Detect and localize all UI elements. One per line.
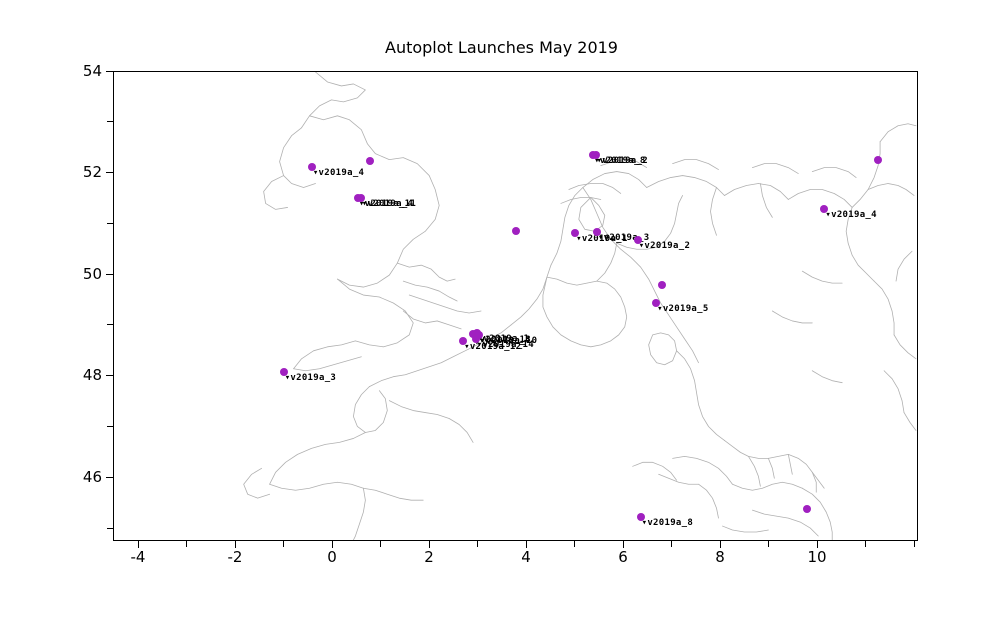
ytick-label: 50 (58, 265, 102, 283)
ytick-minor (107, 223, 113, 224)
xtick-minor (914, 541, 915, 547)
xtick-major (429, 541, 430, 548)
xtick-label: -4 (131, 548, 146, 566)
xtick-minor (380, 541, 381, 547)
xtick-major (138, 541, 139, 548)
data-point-label: ▾v2019a_4 (313, 168, 364, 178)
ytick-label: 46 (58, 468, 102, 486)
xtick-minor (186, 541, 187, 547)
xtick-minor (283, 541, 284, 547)
ytick-minor (107, 528, 113, 529)
ytick-label: 48 (58, 366, 102, 384)
page-title: Autoplot Launches May 2019 (0, 38, 1003, 57)
ytick-label: 52 (58, 163, 102, 181)
xtick-major (623, 541, 624, 548)
ytick-minor (107, 121, 113, 122)
data-point-label: ▾v2019a_3 (285, 373, 336, 383)
data-point-label: ▾v2019a_14 (477, 340, 534, 350)
data-point-label: ▾v2019a_2 (639, 241, 690, 251)
xtick-minor (671, 541, 672, 547)
matplotlib-figure: Autoplot Launches May 2019 (0, 0, 1003, 633)
ytick-major (106, 477, 113, 478)
xtick-label: 0 (327, 548, 337, 566)
xtick-major (235, 541, 236, 548)
xtick-minor (865, 541, 866, 547)
ytick-major (106, 71, 113, 72)
data-point-label: ▾v2019a_4 (825, 210, 876, 220)
xtick-label: 6 (618, 548, 628, 566)
xtick-minor (768, 541, 769, 547)
xtick-label: 10 (807, 548, 826, 566)
data-point-label: ▾v2019a_8 (642, 518, 693, 528)
data-point-label: ▾v2019a_4 (362, 199, 413, 209)
ytick-minor (107, 426, 113, 427)
xtick-label: 4 (521, 548, 531, 566)
ytick-minor (107, 324, 113, 325)
xtick-label: -2 (228, 548, 243, 566)
xtick-minor (477, 541, 478, 547)
data-point-label: ▾v2019a_2 (597, 156, 648, 166)
coastline-map (114, 72, 917, 540)
ytick-label: 54 (58, 62, 102, 80)
data-point-marker[interactable] (512, 227, 520, 235)
xtick-major (817, 541, 818, 548)
ytick-major (106, 274, 113, 275)
xtick-label: 8 (715, 548, 725, 566)
xtick-major (526, 541, 527, 548)
map-axes[interactable] (113, 71, 918, 541)
ytick-major (106, 375, 113, 376)
xtick-label: 2 (424, 548, 434, 566)
xtick-minor (574, 541, 575, 547)
data-point-label: ▾v2019a_5 (657, 304, 708, 314)
ytick-major (106, 172, 113, 173)
xtick-major (332, 541, 333, 548)
xtick-major (720, 541, 721, 548)
